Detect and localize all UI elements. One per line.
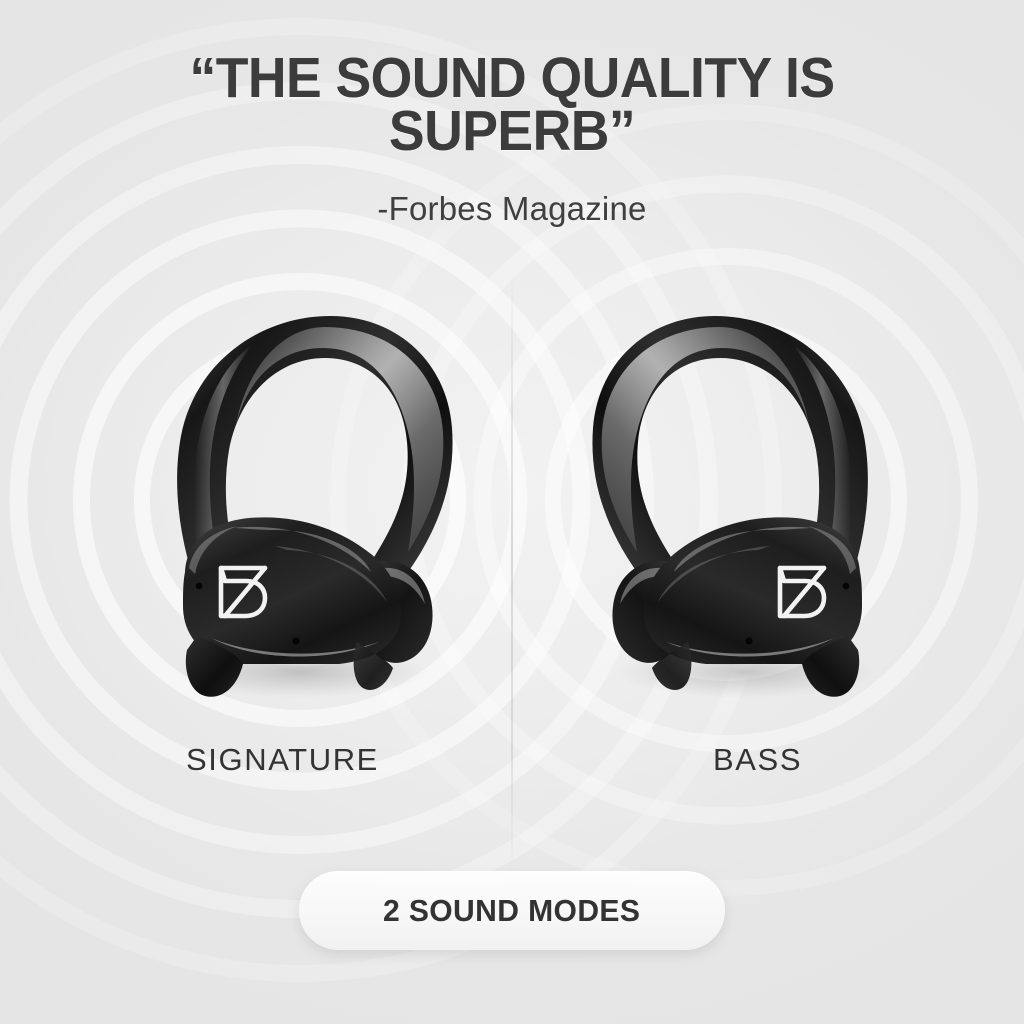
headline-line-2: SUPERB”	[31, 105, 994, 158]
product-marketing-image: “THE SOUND QUALITY IS SUPERB” -Forbes Ma…	[0, 0, 1024, 1024]
mode-label-bass: BASS	[713, 742, 802, 778]
earbud-body	[183, 517, 401, 664]
sound-modes-badge-label: 2 SOUND MODES	[383, 893, 640, 929]
quote-attribution: -Forbes Magazine	[0, 190, 1024, 228]
mode-label-signature: SIGNATURE	[186, 742, 379, 778]
earbud-left-signature	[125, 300, 485, 710]
headline-quote: “THE SOUND QUALITY IS SUPERB”	[31, 52, 994, 158]
earbud-mic-hole-lower	[745, 637, 752, 644]
earbud-mic-hole-upper	[196, 583, 203, 590]
mode-divider	[512, 272, 513, 872]
earbud-right-bass	[560, 300, 920, 710]
earbud-body	[644, 517, 862, 664]
earbud-mic-hole-lower	[292, 637, 299, 644]
sound-modes-badge: 2 SOUND MODES	[299, 871, 725, 950]
earbud-mic-hole-upper	[843, 583, 850, 590]
